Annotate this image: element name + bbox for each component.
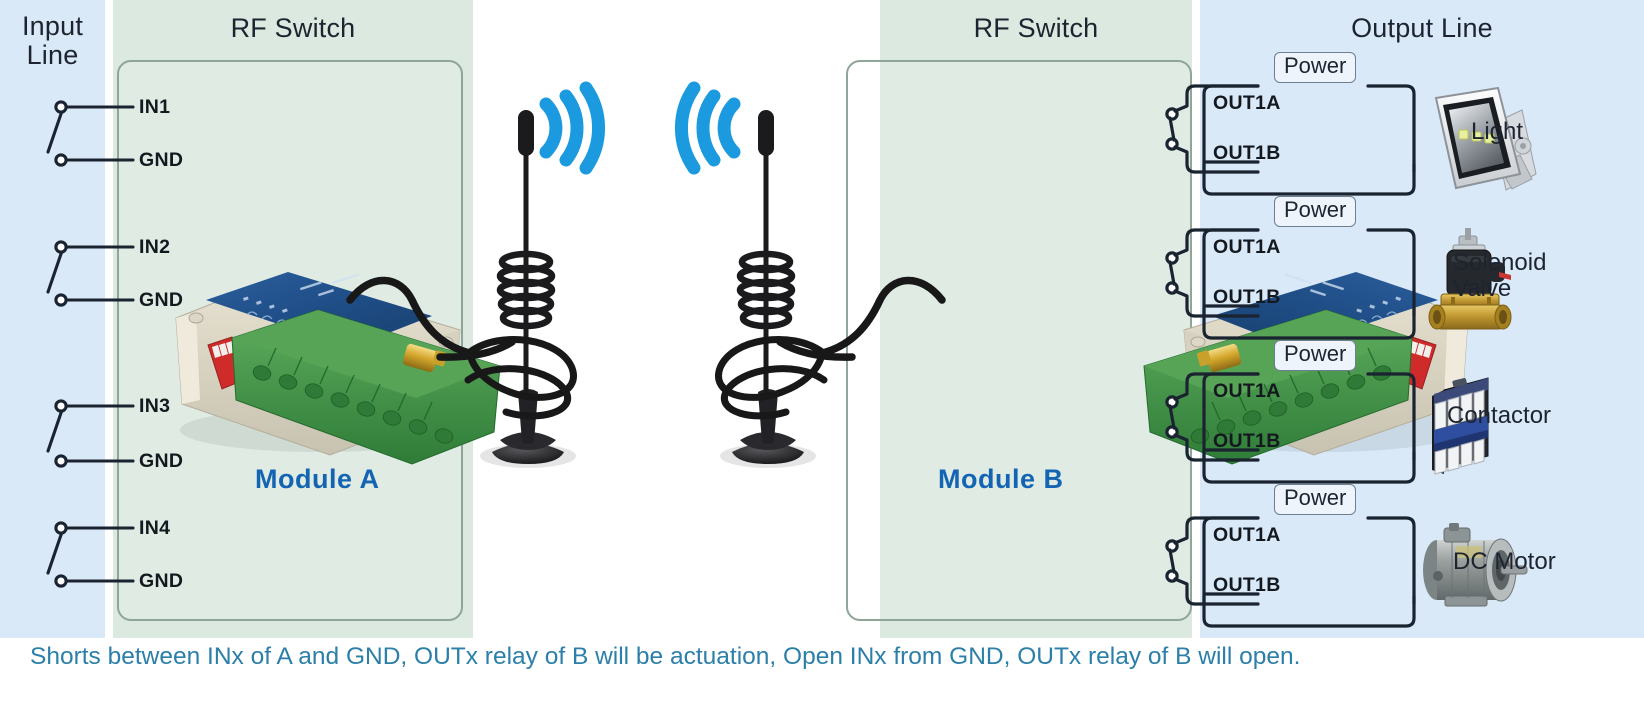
output-terminal-2a-label: OUT1A <box>1213 236 1281 259</box>
output-terminal-1b-label: OUT1B <box>1213 142 1281 165</box>
module-b-caption: Module B <box>938 464 1064 495</box>
input-terminal-in1-label: IN1 <box>139 96 170 119</box>
output-line-title: Output Line <box>1200 14 1644 43</box>
power-source-4[interactable]: Power <box>1274 484 1356 515</box>
output-terminal-3b-label: OUT1B <box>1213 430 1281 453</box>
input-terminal-gnd1-label: GND <box>139 149 183 172</box>
power-source-3[interactable]: Power <box>1274 340 1356 371</box>
output-terminal-3a-label: OUT1A <box>1213 380 1281 403</box>
power-source-1[interactable]: Power <box>1274 52 1356 83</box>
input-terminal-in2-label: IN2 <box>139 236 170 259</box>
input-line-panel <box>0 0 105 638</box>
rf-switch-a-title: RF Switch <box>113 14 473 43</box>
output-terminal-4a-label: OUT1A <box>1213 524 1281 547</box>
antenna-b <box>718 110 824 468</box>
input-terminal-gnd2-label: GND <box>139 289 183 312</box>
diagram-caption: Shorts between INx of A and GND, OUTx re… <box>30 642 1630 692</box>
device-label-solenoid-valve: Solenoid Valve <box>1453 250 1573 303</box>
output-terminal-4b-label: OUT1B <box>1213 574 1281 597</box>
input-terminal-in3-label: IN3 <box>139 395 170 418</box>
rf-switch-b-boundary <box>846 60 1192 621</box>
module-a-caption: Module A <box>255 464 380 495</box>
device-label-contactor: Contactor <box>1447 403 1551 429</box>
input-terminal-gnd4-label: GND <box>139 570 183 593</box>
output-terminal-1a-label: OUT1A <box>1213 92 1281 115</box>
rf-signal-waves-b-icon <box>681 88 734 168</box>
device-label-light: Light <box>1471 119 1523 145</box>
antenna-a <box>468 110 576 468</box>
input-terminal-gnd3-label: GND <box>139 450 183 473</box>
input-line-title: Input Line <box>0 12 105 70</box>
device-label-dc-motor: DC Motor <box>1453 549 1556 575</box>
rf-signal-waves-a-icon <box>546 88 599 168</box>
diagram-stage: Input Line RF Switch RF Switch Output Li… <box>0 0 1644 712</box>
rf-switch-b-title: RF Switch <box>880 14 1192 43</box>
power-source-2[interactable]: Power <box>1274 196 1356 227</box>
input-terminal-in4-label: IN4 <box>139 517 170 540</box>
output-terminal-2b-label: OUT1B <box>1213 286 1281 309</box>
